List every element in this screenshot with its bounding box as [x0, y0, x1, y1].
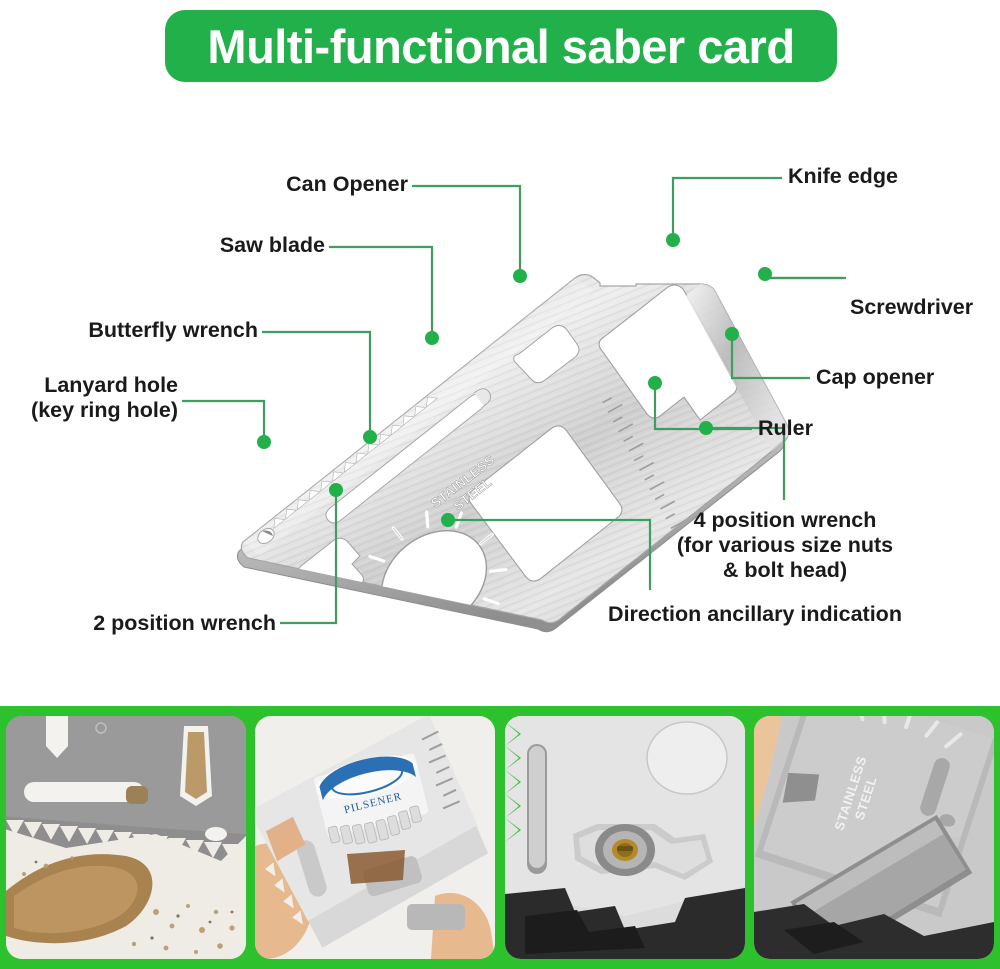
product-diagram: STAINLESS STEEL	[0, 90, 1000, 700]
leader-can-opener	[412, 186, 520, 276]
label-butterfly-wrench: Butterfly wrench	[10, 318, 258, 343]
dot-two-position-wrench	[329, 483, 343, 497]
dot-saw-blade	[425, 331, 439, 345]
label-direction-indication: Direction ancillary indication	[560, 602, 950, 627]
label-lanyard-hole: Lanyard hole (key ring hole)	[0, 373, 178, 423]
leader-knife-edge	[673, 178, 782, 240]
photo-sawing-wood	[6, 716, 246, 959]
label-screwdriver: Screwdriver	[850, 295, 973, 320]
dot-can-opener	[513, 269, 527, 283]
label-saw-blade: Saw blade	[10, 233, 325, 258]
photo-screwdriver	[505, 716, 745, 959]
photo-wrench-crossed: STAINLESS STEEL	[754, 716, 994, 959]
label-four-position-wrench: 4 position wrench (for various size nuts…	[650, 508, 920, 583]
label-knife-edge: Knife edge	[788, 164, 898, 189]
dot-knife-edge	[666, 233, 680, 247]
leader-lanyard-hole	[182, 401, 264, 440]
label-two-position-wrench: 2 position wrench	[20, 611, 276, 636]
dot-cap-opener	[725, 327, 739, 341]
label-cap-opener: Cap opener	[816, 365, 934, 390]
dot-ruler	[648, 376, 662, 390]
leader-saw-blade	[329, 247, 432, 338]
title-banner: Multi-functional saber card	[165, 10, 837, 82]
dot-butterfly-wrench	[363, 430, 377, 444]
leader-butterfly-wrench	[262, 332, 370, 437]
dot-direction-indication	[441, 513, 455, 527]
dot-four-position-wrench	[699, 421, 713, 435]
product-photo-strip: PILSENER	[0, 706, 1000, 969]
dot-screwdriver	[758, 267, 772, 281]
label-ruler: Ruler	[758, 416, 813, 441]
photo-bottle-opener: PILSENER	[255, 716, 495, 959]
dot-lanyard-hole	[257, 435, 271, 449]
label-can-opener: Can Opener	[60, 172, 408, 197]
page-title: Multi-functional saber card	[207, 19, 794, 74]
